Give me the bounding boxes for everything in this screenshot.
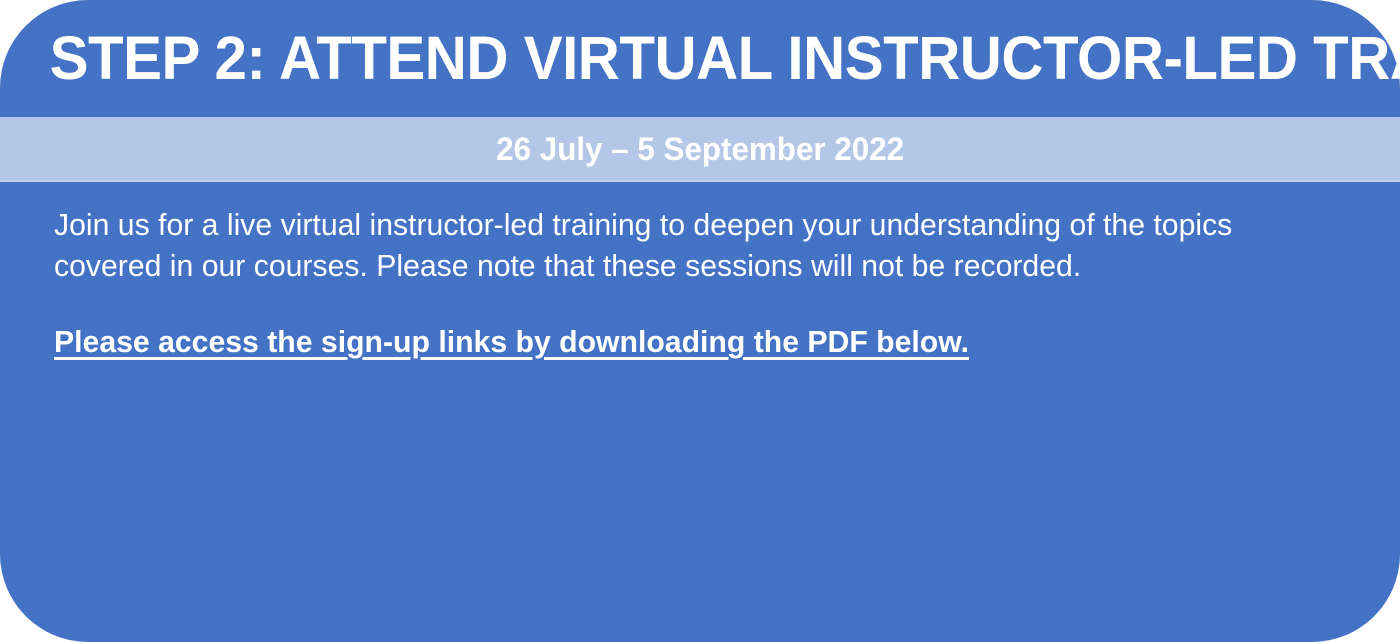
date-band: 26 July – 5 September 2022 bbox=[0, 117, 1400, 182]
step-2-info-card: STEP 2: ATTEND VIRTUAL INSTRUCTOR-LED TR… bbox=[0, 0, 1400, 642]
body-paragraph: Join us for a live virtual instructor-le… bbox=[54, 205, 1299, 287]
card-header: STEP 2: ATTEND VIRTUAL INSTRUCTOR-LED TR… bbox=[0, 0, 1400, 117]
card-body: Join us for a live virtual instructor-le… bbox=[0, 182, 1400, 642]
body-spacer bbox=[54, 287, 1344, 322]
signup-links-pdf-link[interactable]: Please access the sign-up links by downl… bbox=[54, 322, 969, 363]
page-title: STEP 2: ATTEND VIRTUAL INSTRUCTOR-LED TR… bbox=[0, 28, 1400, 89]
date-range-label: 26 July – 5 September 2022 bbox=[496, 133, 904, 165]
